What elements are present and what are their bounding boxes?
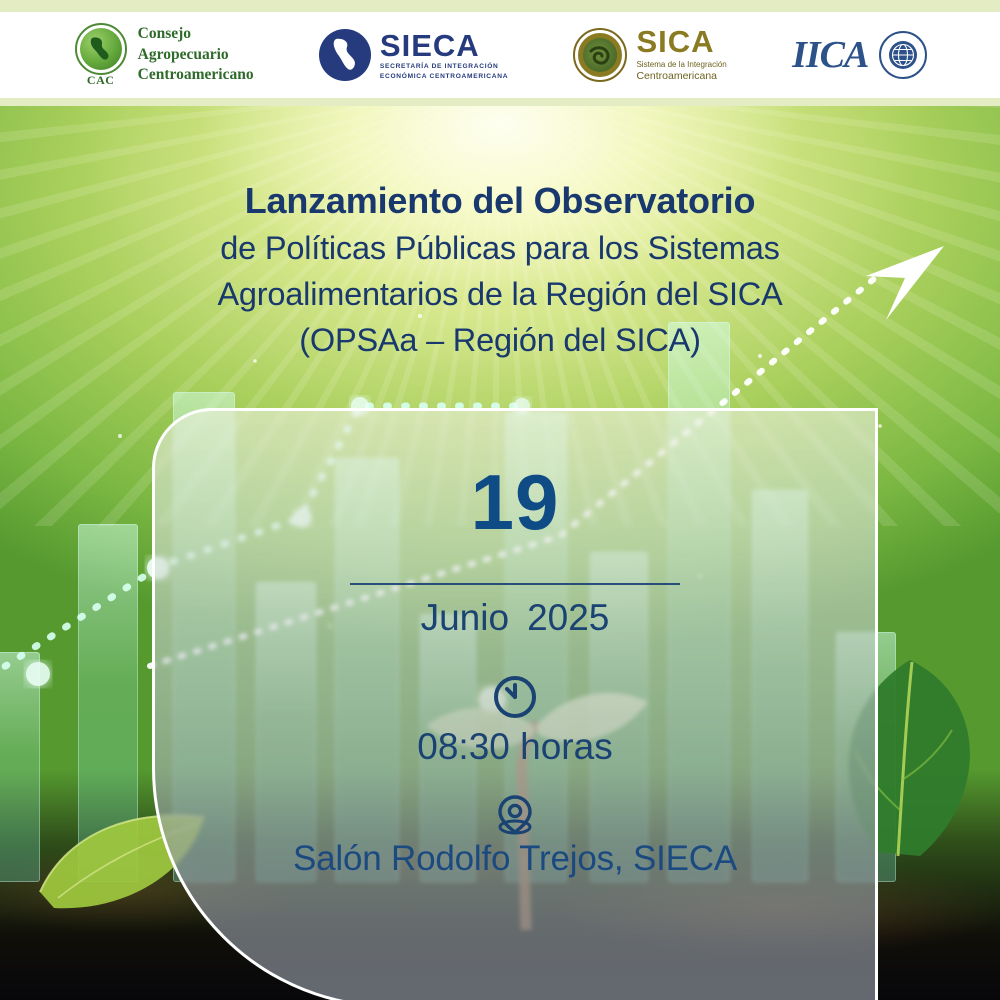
title-line-3: Agroalimentarios de la Región del SICA <box>0 271 1000 317</box>
sica-seal-icon <box>573 28 627 82</box>
clock-icon <box>491 673 539 721</box>
title-line-1: Lanzamiento del Observatorio <box>0 178 1000 225</box>
logo-sica: SICA Sistema de la Integración Centroame… <box>573 26 726 84</box>
bottom-accent-strip <box>0 98 1000 106</box>
event-time: 08:30 horas <box>155 726 875 768</box>
title-line-4: (OPSAa – Región del SICA) <box>0 317 1000 363</box>
iica-globe-graphic <box>887 39 919 71</box>
iica-globe-icon <box>879 31 927 79</box>
cac-line-3: Centroamericano <box>138 65 254 86</box>
logo-bar: CAC Consejo Agropecuario Centroamericano… <box>0 12 1000 98</box>
sieca-wordmark: SIECA SECRETARÍA DE INTEGRACIÓN ECONÓMIC… <box>380 30 508 80</box>
cac-map-icon <box>89 36 113 62</box>
logo-sieca: SIECA SECRETARÍA DE INTEGRACIÓN ECONÓMIC… <box>319 29 508 81</box>
cac-line-1: Consejo <box>138 24 254 45</box>
poster-title: Lanzamiento del Observatorio de Política… <box>0 178 1000 363</box>
cac-line-2: Agropecuario <box>138 45 254 66</box>
sieca-name: SIECA <box>380 30 508 61</box>
event-month-year: Junio2025 <box>155 597 875 639</box>
title-line-2: de Políticas Públicas para los Sistemas <box>0 225 1000 271</box>
logo-iica: IICA <box>792 31 927 79</box>
sieca-sub-1: SECRETARÍA DE INTEGRACIÓN <box>380 64 508 71</box>
sieca-map-icon <box>332 37 359 74</box>
sica-wordmark: SICA Sistema de la Integración Centroame… <box>636 26 726 84</box>
event-details-card: 19 Junio2025 08:30 horas Salón Rodolfo T… <box>152 408 878 1000</box>
sica-name: SICA <box>636 26 726 57</box>
top-accent-strip <box>0 0 1000 12</box>
event-venue: Salón Rodolfo Trejos, SIECA <box>155 839 875 879</box>
location-pin-icon <box>493 791 537 837</box>
sieca-sub-2: ECONÓMICA CENTROAMERICANA <box>380 74 508 81</box>
cac-seal-icon: CAC <box>73 23 129 87</box>
logo-cac: CAC Consejo Agropecuario Centroamericano <box>73 23 254 87</box>
event-year: 2025 <box>527 597 609 638</box>
cac-wordmark: Consejo Agropecuario Centroamericano <box>138 24 254 86</box>
sieca-globe-icon <box>319 29 371 81</box>
iica-name: IICA <box>792 33 868 77</box>
sica-bird-icon <box>589 45 613 67</box>
cac-acronym: CAC <box>73 73 129 88</box>
event-poster: Lanzamiento del Observatorio de Política… <box>0 0 1000 1000</box>
event-month: Junio <box>421 597 509 638</box>
sica-sub-2: Centroamericana <box>636 70 726 84</box>
divider-rule <box>350 583 680 585</box>
sica-sub-1: Sistema de la Integración <box>636 60 726 69</box>
event-day: 19 <box>155 463 875 541</box>
